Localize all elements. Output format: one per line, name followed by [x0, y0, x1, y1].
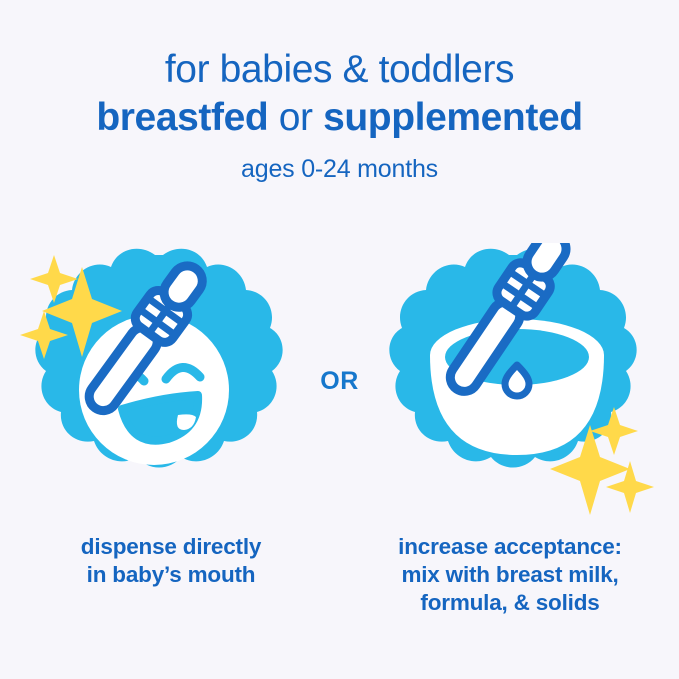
header: for babies & toddlers breastfed or suppl…: [0, 46, 679, 184]
title-line-2: breastfed or supplemented: [0, 94, 679, 142]
title-word-breastfed: breastfed: [96, 96, 268, 139]
title-word-or: or: [279, 96, 313, 139]
panel-increase-acceptance: [372, 243, 662, 523]
subtitle-age-range: ages 0-24 months: [0, 154, 679, 184]
caption-dispense-directly: dispense directly in baby’s mouth: [16, 533, 326, 589]
title-word-supplemented: supplemented: [323, 96, 583, 139]
caption-line: mix with breast milk,: [355, 561, 665, 589]
illustration-row: [0, 243, 679, 533]
caption-increase-acceptance: increase acceptance: mix with breast mil…: [355, 533, 665, 617]
infographic-page: for babies & toddlers breastfed or suppl…: [0, 0, 679, 679]
caption-line: dispense directly: [16, 533, 326, 561]
caption-line: in baby’s mouth: [16, 561, 326, 589]
caption-line: formula, & solids: [355, 589, 665, 617]
caption-line: increase acceptance:: [355, 533, 665, 561]
caption-row: dispense directly in baby’s mouth increa…: [0, 533, 679, 653]
panel-dispense-directly: [18, 243, 308, 523]
title-line-1: for babies & toddlers: [0, 46, 679, 93]
droplet-icon: [505, 365, 529, 396]
